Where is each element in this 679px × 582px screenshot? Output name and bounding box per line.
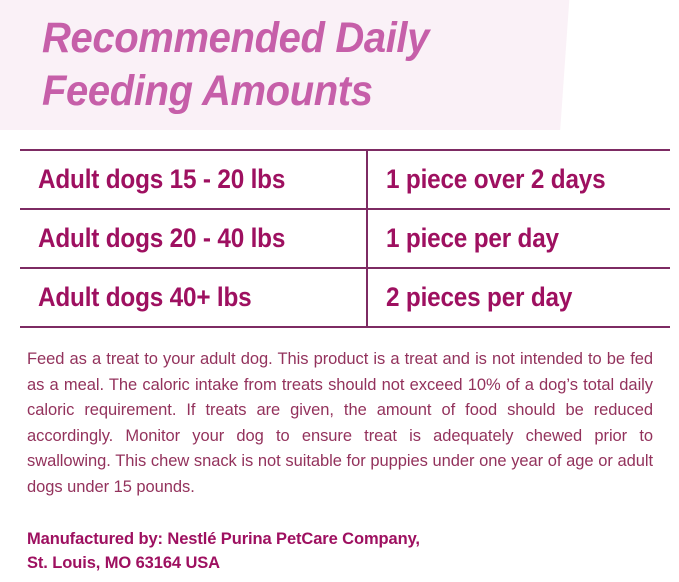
feeding-table-body: Adult dogs 15 - 20 lbs 1 piece over 2 da… xyxy=(20,150,670,327)
dog-weight-label: Adult dogs 15 - 20 lbs xyxy=(38,164,285,195)
table-cell-feeding-amount: 1 piece over 2 days xyxy=(367,150,670,209)
dog-weight-label: Adult dogs 40+ lbs xyxy=(38,282,251,313)
table-row: Adult dogs 15 - 20 lbs 1 piece over 2 da… xyxy=(20,150,670,209)
table-row: Adult dogs 20 - 40 lbs 1 piece per day xyxy=(20,209,670,268)
table-row: Adult dogs 40+ lbs 2 pieces per day xyxy=(20,268,670,327)
page-title: Recommended Daily Feeding Amounts xyxy=(42,12,600,118)
feeding-amount-label: 1 piece per day xyxy=(386,223,559,254)
feeding-instructions-text: Feed as a treat to your adult dog. This … xyxy=(27,347,653,500)
feeding-amount-label: 1 piece over 2 days xyxy=(386,164,605,195)
table-cell-feeding-amount: 2 pieces per day xyxy=(367,268,670,327)
table-cell-dog-weight: Adult dogs 40+ lbs xyxy=(20,268,367,327)
dog-weight-label: Adult dogs 20 - 40 lbs xyxy=(38,223,285,254)
manufacturer-address: Manufactured by: Nestlé Purina PetCare C… xyxy=(27,527,647,575)
table-cell-feeding-amount: 1 piece per day xyxy=(367,209,670,268)
feeding-amount-label: 2 pieces per day xyxy=(386,282,572,313)
header-region: Recommended Daily Feeding Amounts xyxy=(0,0,679,140)
table-cell-dog-weight: Adult dogs 15 - 20 lbs xyxy=(20,150,367,209)
table-cell-dog-weight: Adult dogs 20 - 40 lbs xyxy=(20,209,367,268)
feeding-amounts-table: Adult dogs 15 - 20 lbs 1 piece over 2 da… xyxy=(20,149,670,328)
